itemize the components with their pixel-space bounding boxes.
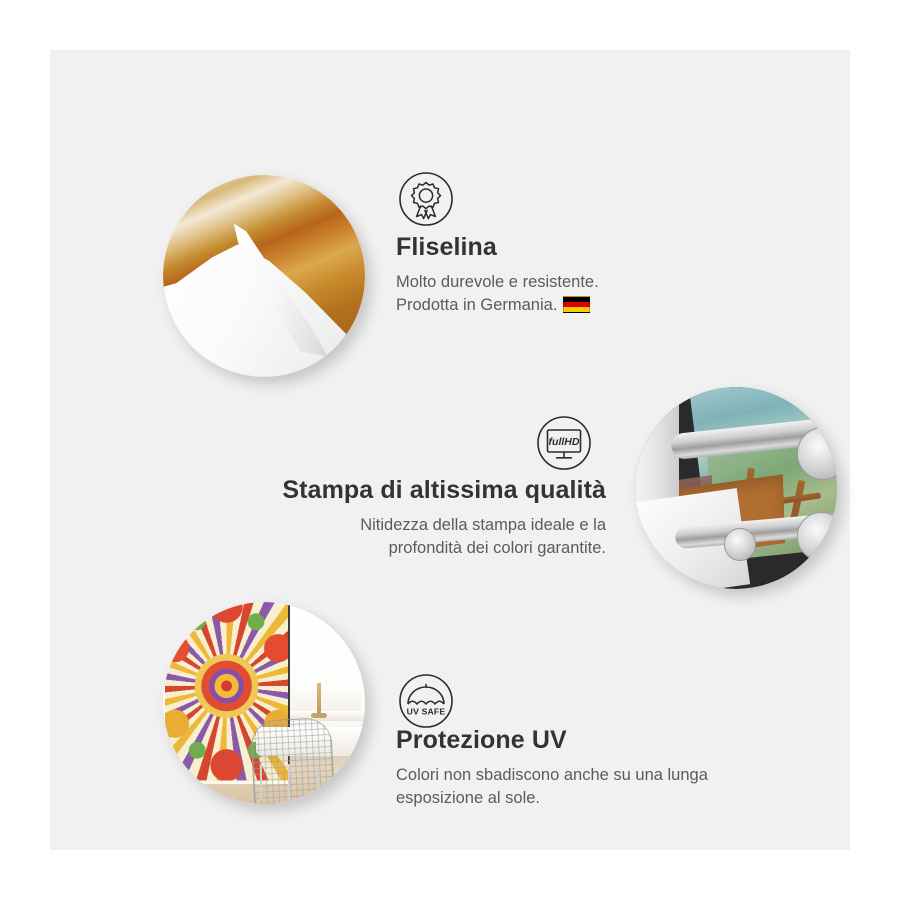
room-window <box>288 606 361 719</box>
chair-leg <box>260 764 262 800</box>
content-panel: Fliselina Molto durevole e resistente. P… <box>50 50 850 850</box>
feature-print-quality-text: Stampa di altissima qualità Nitidezza de… <box>200 477 606 561</box>
feature-uv-protection-heading: Protezione UV <box>396 727 836 755</box>
mandala-wallpaper-room-photo-inner <box>163 602 365 804</box>
infographic-page: Fliselina Molto durevole e resistente. P… <box>0 0 900 900</box>
printing-machine-photo <box>635 387 837 589</box>
body-line: Nitidezza della stampa ideale e la <box>200 514 606 538</box>
uv-safe-umbrella-icon: UV SAFE <box>398 673 454 729</box>
roller-disc <box>797 512 837 560</box>
chair-leg <box>288 764 290 800</box>
roller-knob <box>724 528 756 560</box>
feature-fliselina-heading: Fliselina <box>396 234 816 262</box>
feature-print-quality-body: Nitidezza della stampa ideale e la profo… <box>200 514 606 562</box>
svg-text:UV SAFE: UV SAFE <box>407 707 446 717</box>
fullhd-monitor-icon: fullHD <box>536 415 592 471</box>
feature-fliselina-text: Fliselina Molto durevole e resistente. P… <box>396 234 816 318</box>
body-line: Molto durevole e resistente. <box>396 271 816 295</box>
printing-machine-photo-inner <box>635 387 837 589</box>
feature-uv-protection-text: Protezione UV Colori non sbadiscono anch… <box>396 727 836 811</box>
peeling-wallpaper-photo <box>163 175 365 377</box>
feature-fliselina-body: Molto durevole e resistente. Prodotta in… <box>396 271 816 319</box>
peeling-wallpaper-photo-inner <box>163 175 365 377</box>
award-ribbon-icon <box>398 171 454 227</box>
feature-print-quality-heading: Stampa di altissima qualità <box>200 477 606 505</box>
body-line-text: Prodotta in Germania. <box>396 296 557 314</box>
body-line: Colori non sbadiscono anche su una lunga <box>396 764 836 788</box>
chair-leg <box>317 764 319 800</box>
feature-uv-protection-body: Colori non sbadiscono anche su una lunga… <box>396 764 836 812</box>
body-line: esposizione al sole. <box>396 787 836 811</box>
mandala-wallpaper-room-photo <box>163 602 365 804</box>
candle-holder-base <box>311 713 327 718</box>
candle-holder <box>317 683 321 715</box>
body-line: Prodotta in Germania. <box>396 294 816 318</box>
body-line: profondità dei colori garantite. <box>200 537 606 561</box>
wire-chair <box>250 717 335 804</box>
svg-text:fullHD: fullHD <box>549 436 580 448</box>
german-flag <box>563 296 590 313</box>
